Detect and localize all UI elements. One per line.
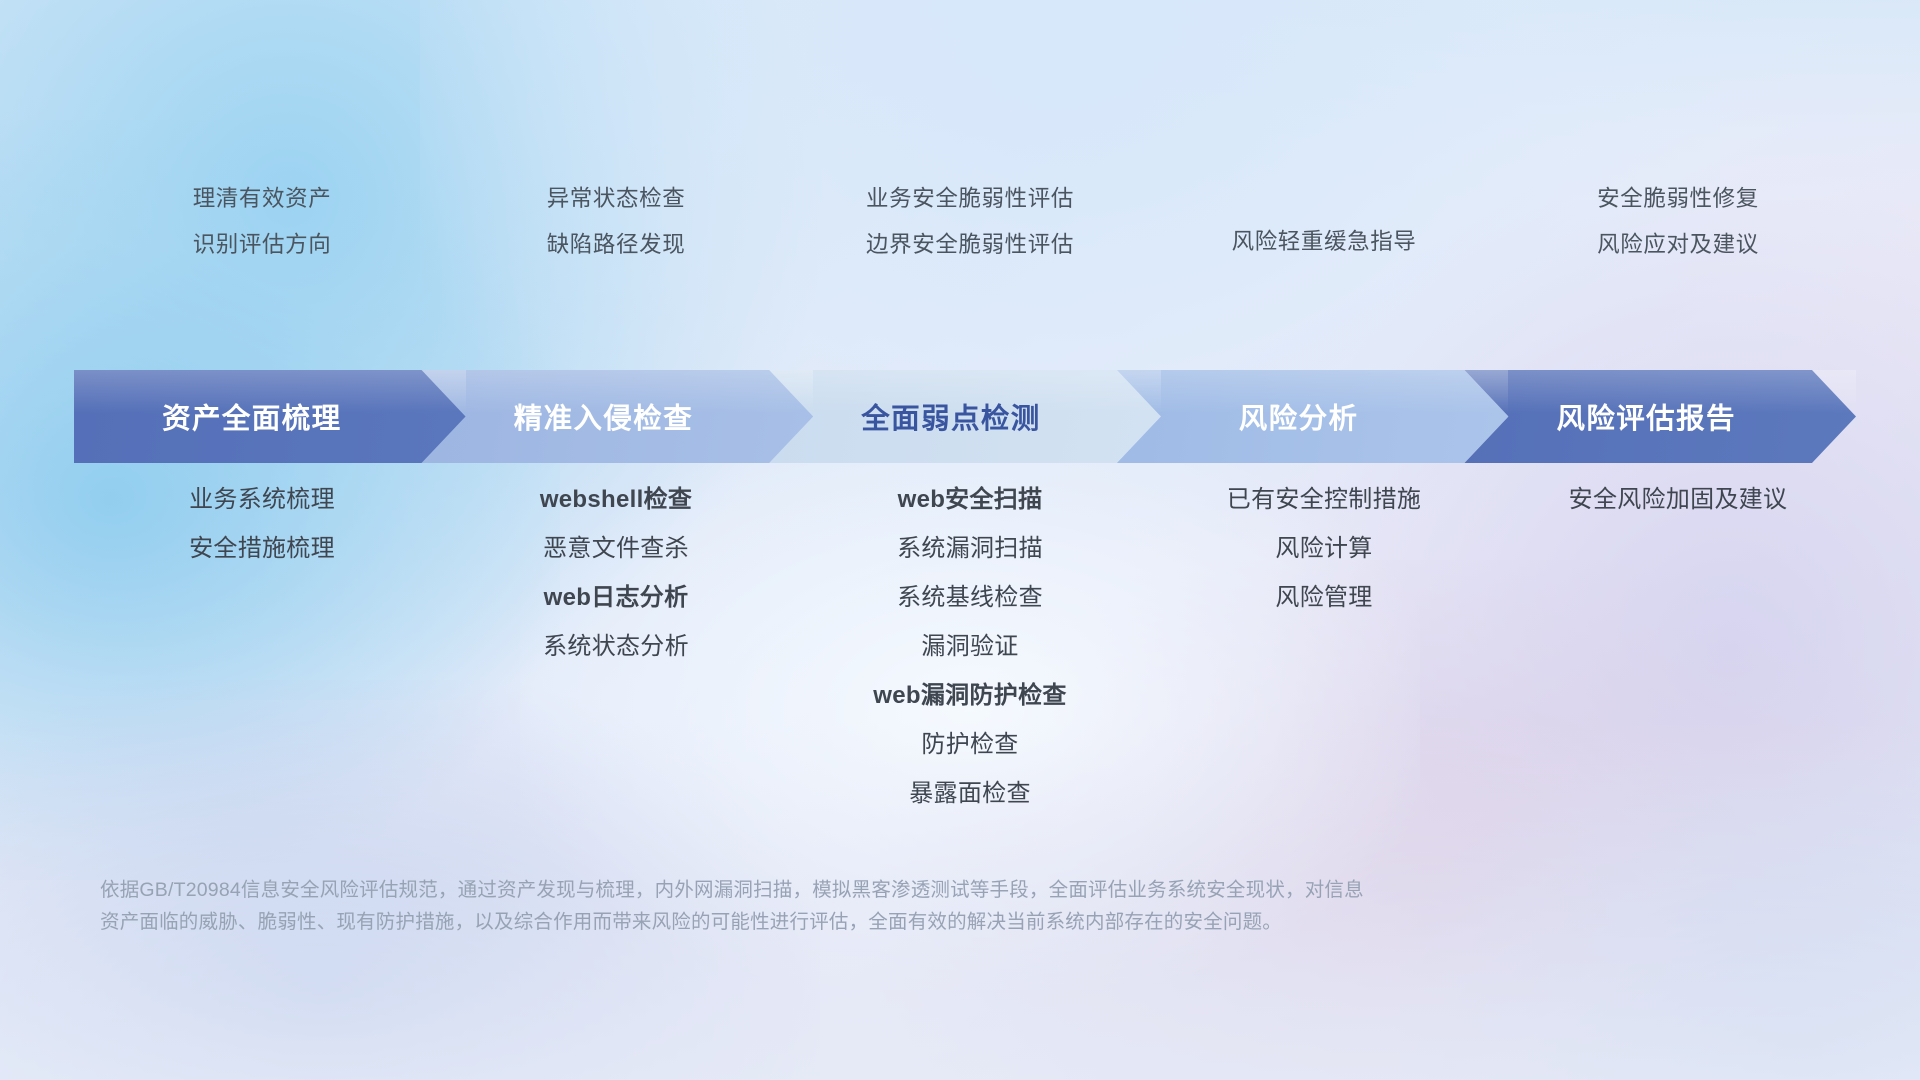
detail-list-item: 安全风险加固及建议 (1569, 488, 1788, 512)
footer-description: 依据GB/T20984信息安全风险评估规范，通过资产发现与梳理，内外网漏洞扫描，… (100, 875, 1580, 938)
upper-annotation-group-risk-assessment-report: 安全脆弱性修复风险应对及建议 (1501, 188, 1855, 296)
upper-annotation-group-precise-intrusion-check: 异常状态检查缺陷路径发现 (439, 188, 793, 296)
detail-list-item: 业务系统梳理 (189, 488, 335, 512)
footer-line-1: 依据GB/T20984信息安全风险评估规范，通过资产发现与梳理，内外网漏洞扫描，… (100, 875, 1580, 907)
chevron-stage-precise-intrusion-check[interactable]: 精准入侵检查 (422, 370, 814, 463)
detail-list-item: 防护检查 (921, 733, 1018, 757)
process-diagram: 理清有效资产识别评估方向异常状态检查缺陷路径发现业务安全脆弱性评估边界安全脆弱性… (0, 0, 1920, 1080)
detail-list-item: web漏洞防护检查 (873, 684, 1066, 708)
chevron-stage-risk-assessment-report[interactable]: 风险评估报告 (1464, 370, 1856, 463)
detail-list-full-weakness-detection: web安全扫描系统漏洞扫描系统基线检查漏洞验证web漏洞防护检查防护检查暴露面检… (793, 488, 1147, 806)
detail-list-risk-analysis: 已有安全控制措施风险计算风险管理 (1147, 488, 1501, 610)
detail-list-item: 系统漏洞扫描 (897, 537, 1043, 561)
footer-line-2: 资产面临的威胁、脆弱性、现有防护措施，以及综合作用而带来风险的可能性进行评估，全… (100, 907, 1580, 939)
upper-annotation-item: 业务安全脆弱性评估 (866, 188, 1074, 211)
lower-details-row: 业务系统梳理安全措施梳理webshell检查恶意文件查杀web日志分析系统状态分… (85, 488, 1855, 748)
upper-annotation-item: 理清有效资产 (193, 188, 332, 211)
chevron-process-band: 资产全面梳理精准入侵检查全面弱点检测风险分析风险评估报告 (74, 370, 1856, 463)
chevron-stage-asset-inventory[interactable]: 资产全面梳理 (74, 370, 466, 463)
upper-annotation-item: 风险轻重缓急指导 (1232, 231, 1417, 254)
detail-list-item: web日志分析 (544, 586, 689, 610)
detail-list-item: 恶意文件查杀 (543, 537, 689, 561)
chevron-stage-label: 全面弱点检测 (861, 396, 1040, 437)
upper-annotation-item: 边界安全脆弱性评估 (866, 234, 1074, 257)
detail-list-item: webshell检查 (540, 488, 692, 512)
upper-annotation-group-risk-analysis: 风险轻重缓急指导 (1147, 188, 1501, 296)
upper-annotation-item: 识别评估方向 (193, 234, 332, 257)
chevron-stage-risk-analysis[interactable]: 风险分析 (1117, 370, 1509, 463)
upper-annotation-item: 安全脆弱性修复 (1597, 188, 1759, 211)
chevron-stage-full-weakness-detection[interactable]: 全面弱点检测 (769, 370, 1161, 463)
upper-annotation-item: 异常状态检查 (547, 188, 686, 211)
detail-list-asset-inventory: 业务系统梳理安全措施梳理 (85, 488, 439, 561)
upper-annotation-item: 风险应对及建议 (1597, 234, 1759, 257)
upper-annotation-group-asset-inventory: 理清有效资产识别评估方向 (85, 188, 439, 296)
detail-list-item: 风险管理 (1275, 586, 1372, 610)
chevron-stage-label: 风险分析 (1239, 396, 1359, 437)
detail-list-precise-intrusion-check: webshell检查恶意文件查杀web日志分析系统状态分析 (439, 488, 793, 659)
chevron-stage-label: 风险评估报告 (1556, 396, 1735, 437)
upper-annotation-item: 缺陷路径发现 (547, 234, 686, 257)
detail-list-item: 安全措施梳理 (189, 537, 335, 561)
upper-annotation-group-full-weakness-detection: 业务安全脆弱性评估边界安全脆弱性评估 (793, 188, 1147, 296)
detail-list-item: web安全扫描 (898, 488, 1043, 512)
detail-list-item: 暴露面检查 (909, 782, 1031, 806)
upper-annotations-row: 理清有效资产识别评估方向异常状态检查缺陷路径发现业务安全脆弱性评估边界安全脆弱性… (85, 188, 1855, 296)
detail-list-risk-assessment-report: 安全风险加固及建议 (1501, 488, 1855, 512)
chevron-stage-label: 精准入侵检查 (514, 396, 693, 437)
detail-list-item: 已有安全控制措施 (1227, 488, 1421, 512)
detail-list-item: 系统基线检查 (897, 586, 1043, 610)
chevron-stage-label: 资产全面梳理 (162, 396, 341, 437)
detail-list-item: 漏洞验证 (921, 635, 1018, 659)
detail-list-item: 系统状态分析 (543, 635, 689, 659)
detail-list-item: 风险计算 (1275, 537, 1372, 561)
